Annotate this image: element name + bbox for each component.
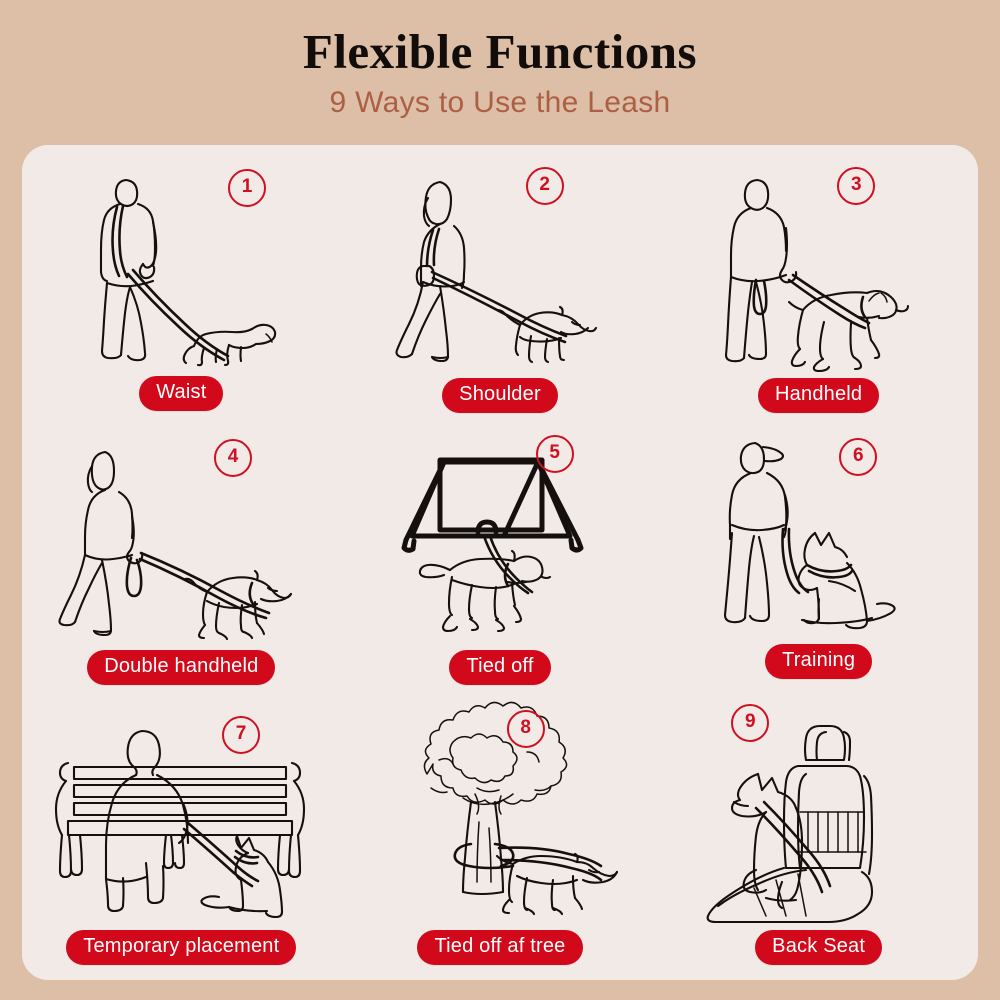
panel-temporary-placement[interactable]: 7 Temporary placement (22, 702, 341, 980)
page-title: Flexible Functions (0, 0, 1000, 77)
infographic-poster: Flexible Functions 9 Ways to Use the Lea… (0, 0, 1000, 1000)
label-row: Waist (22, 376, 341, 411)
panel-label-waist[interactable]: Waist (139, 376, 223, 411)
dog-in-car-back-seat-icon (694, 702, 944, 920)
panels-grid: 1 Waist (22, 145, 978, 980)
panel-number-badge: 8 (507, 710, 545, 748)
person-training-sitting-dog-icon (711, 429, 926, 634)
panel-number-badge: 2 (526, 167, 564, 205)
panel-handheld[interactable]: 3 Handheld (659, 145, 978, 423)
person-handheld-leash-dog-icon (711, 170, 926, 368)
person-double-handheld-leash-dog-icon (61, 440, 301, 640)
panel-shoulder[interactable]: 2 Shoulder (341, 145, 660, 423)
illustration-double-handheld (22, 435, 341, 640)
label-row: Shoulder (341, 378, 660, 413)
panel-waist[interactable]: 1 Waist (22, 145, 341, 423)
label-row: Tied off (341, 650, 660, 685)
panel-double-handheld[interactable]: 4 Double handheld (22, 423, 341, 701)
panel-label-temporary-placement[interactable]: Temporary placement (66, 930, 296, 965)
panel-label-tied-off-at-tree[interactable]: Tied off af tree (417, 930, 582, 965)
person-shoulder-strap-leash-dog-icon (392, 170, 607, 368)
illustration-temporary-placement (22, 708, 341, 920)
panel-number-badge: 1 (228, 169, 266, 207)
illustration-training (659, 429, 978, 634)
panel-label-handheld[interactable]: Handheld (758, 378, 879, 413)
panel-number-badge: 7 (222, 716, 260, 754)
panel-tied-off-at-tree[interactable]: 8 Tied off af tree (341, 702, 660, 980)
panel-number-badge: 5 (536, 435, 574, 473)
leash-tied-to-tent-pole-icon (392, 440, 607, 640)
illustration-waist (22, 161, 341, 366)
panel-training[interactable]: 6 Training (659, 423, 978, 701)
panel-label-back-seat[interactable]: Back Seat (755, 930, 882, 965)
poster-header: Flexible Functions 9 Ways to Use the Lea… (0, 0, 1000, 145)
label-row: Temporary placement (22, 930, 341, 965)
panel-tied-off[interactable]: 5 Tied off (341, 423, 660, 701)
label-row: Training (659, 644, 978, 679)
panel-label-double-handheld[interactable]: Double handheld (87, 650, 275, 685)
panels-card: 1 Waist (22, 145, 978, 980)
label-row: Handheld (659, 378, 978, 413)
panel-number-badge: 9 (731, 704, 769, 742)
illustration-shoulder (341, 163, 660, 368)
illustration-handheld (659, 163, 978, 368)
panel-back-seat[interactable]: 9 Back Seat (659, 702, 978, 980)
person-on-bench-with-leashed-dog-icon (46, 705, 316, 920)
panel-label-training[interactable]: Training (765, 644, 872, 679)
panel-label-tied-off[interactable]: Tied off (449, 650, 550, 685)
page-subtitle: 9 Ways to Use the Leash (0, 77, 1000, 120)
label-row: Back Seat (659, 930, 978, 965)
label-row: Tied off af tree (341, 930, 660, 965)
illustration-tied-off (341, 435, 660, 640)
label-row: Double handheld (22, 650, 341, 685)
leash-around-tree-with-dog-icon (367, 702, 632, 920)
illustration-back-seat (659, 702, 978, 920)
panel-label-shoulder[interactable]: Shoulder (442, 378, 558, 413)
illustration-tied-off-at-tree (341, 702, 660, 920)
